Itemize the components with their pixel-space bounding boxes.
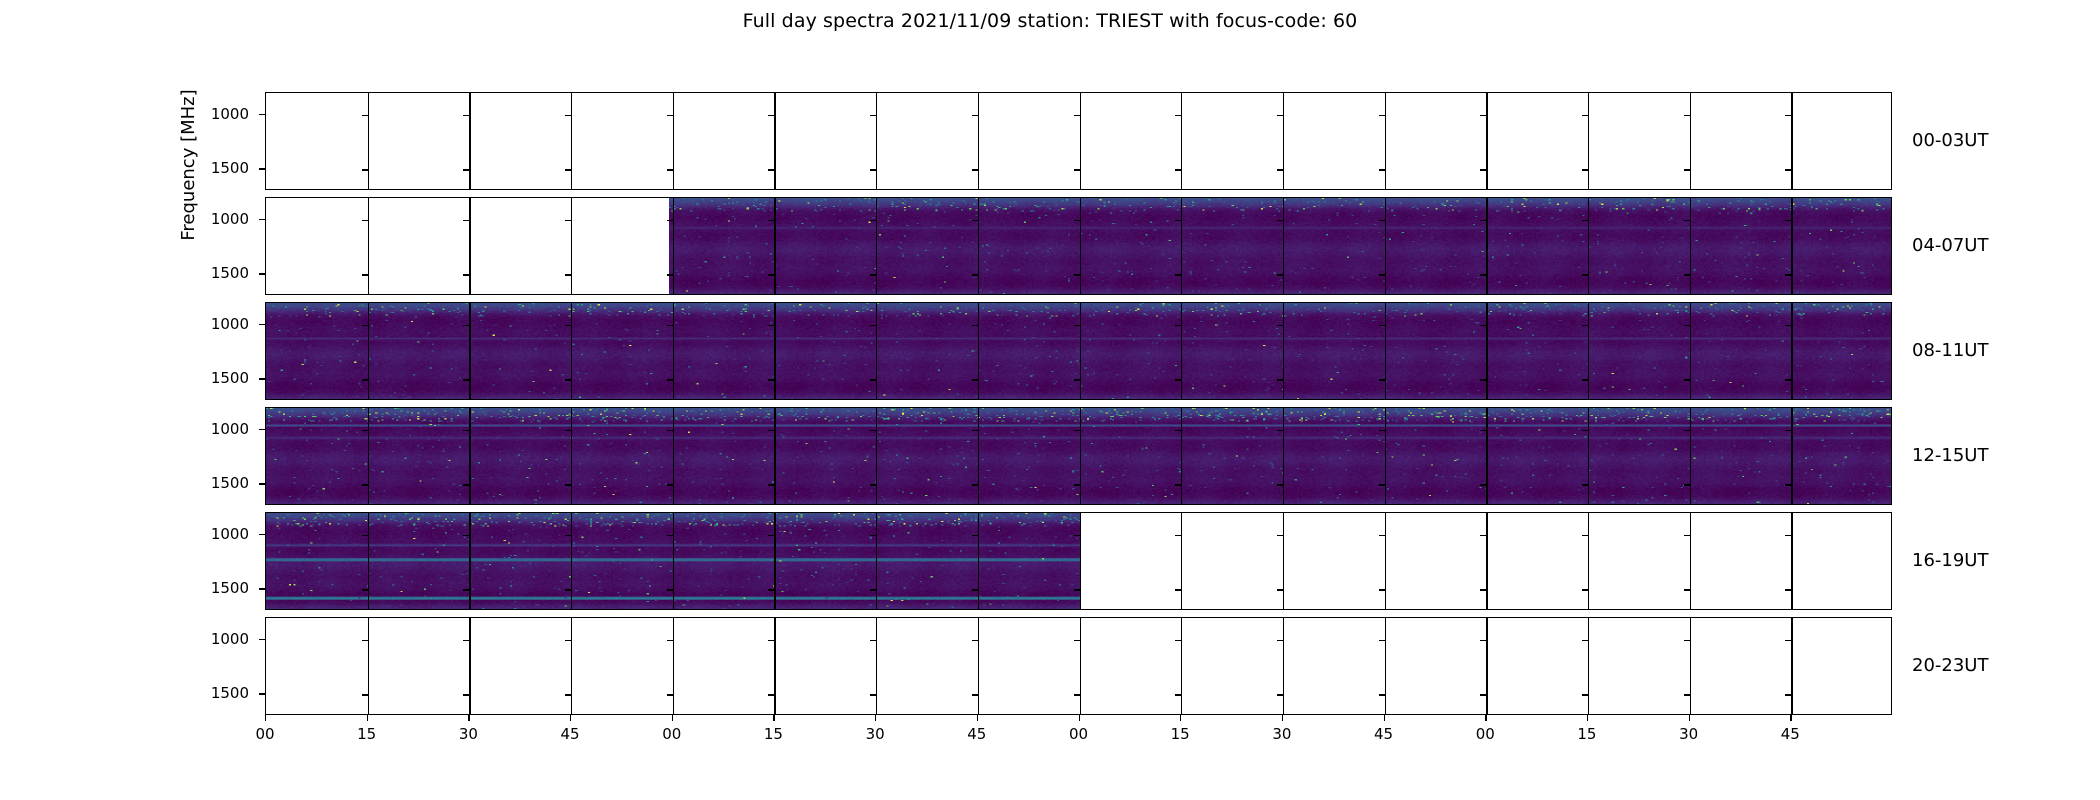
y-tick-inner (1480, 379, 1486, 380)
y-tick-inner (1175, 640, 1181, 641)
y-tick-inner (667, 484, 673, 485)
y-tick-inner (768, 169, 774, 170)
y-tick-inner (870, 220, 876, 221)
spectrogram-row-12-15[interactable] (265, 407, 1892, 505)
y-tick-label: 1500 (189, 684, 249, 702)
y-tick-inner (972, 640, 978, 641)
y-tick-inner (870, 694, 876, 695)
y-tick-inner (1277, 115, 1283, 116)
y-tick-inner (1277, 535, 1283, 536)
y-tick-inner (463, 274, 469, 275)
y-tick-inner (972, 589, 978, 590)
subpanel-divider (469, 198, 470, 294)
subpanel-divider (1283, 303, 1284, 399)
y-tick-inner (1074, 325, 1080, 326)
y-tick-inner (1480, 115, 1486, 116)
subpanel-divider (876, 408, 877, 504)
y-tick-inner (1684, 484, 1690, 485)
y-tick-inner (1684, 115, 1690, 116)
subpanel-divider (1690, 513, 1691, 609)
y-tick-inner (1074, 484, 1080, 485)
y-tick-inner (870, 589, 876, 590)
y-tick-inner (1480, 589, 1486, 590)
y-tick-inner (768, 640, 774, 641)
subpanel-divider (1588, 303, 1589, 399)
page-title: Full day spectra 2021/11/09 station: TRI… (0, 10, 2100, 32)
y-tick-inner (1582, 484, 1588, 485)
subpanel-divider (1791, 303, 1792, 399)
y-tick-inner (1684, 589, 1690, 590)
y-tick-label: 1500 (189, 474, 249, 492)
y-tick-inner (1582, 640, 1588, 641)
y-tick-inner (565, 115, 571, 116)
subpanel-divider (1486, 513, 1487, 609)
y-tick-inner (667, 430, 673, 431)
y-tick-inner (1175, 325, 1181, 326)
subpanel-divider (1486, 198, 1487, 294)
y-tick-inner (1379, 535, 1385, 536)
y-tick-inner (1074, 220, 1080, 221)
x-tick-label: 45 (1760, 725, 1820, 743)
y-tick-label: 1000 (189, 525, 249, 543)
subpanel-divider (876, 93, 877, 189)
y-tick-inner (1074, 535, 1080, 536)
y-tick-inner (1175, 169, 1181, 170)
y-tick-inner (870, 430, 876, 431)
subpanel-divider (978, 618, 979, 714)
y-tick (259, 324, 265, 325)
subpanel-divider (1690, 303, 1691, 399)
subpanel-divider (1283, 513, 1284, 609)
x-tick (773, 715, 774, 721)
y-tick-label: 1000 (189, 210, 249, 228)
subpanel-divider (876, 513, 877, 609)
y-tick-inner (870, 325, 876, 326)
subpanel-divider (1080, 93, 1081, 189)
y-tick-inner (972, 115, 978, 116)
y-tick-inner (565, 220, 571, 221)
y-tick-inner (870, 115, 876, 116)
y-tick-label: 1000 (189, 315, 249, 333)
y-tick-inner (972, 274, 978, 275)
subpanel-divider (368, 513, 369, 609)
x-tick-label: 00 (1455, 725, 1515, 743)
x-tick-label: 15 (337, 725, 397, 743)
x-tick (1384, 715, 1385, 721)
subpanel-divider (368, 93, 369, 189)
y-tick-inner (1785, 484, 1791, 485)
subpanel-divider (1588, 618, 1589, 714)
y-tick (259, 588, 265, 589)
y-tick-inner (1480, 430, 1486, 431)
y-tick-inner (1074, 274, 1080, 275)
subpanel-divider (978, 408, 979, 504)
y-tick-inner (1785, 430, 1791, 431)
y-tick-inner (565, 640, 571, 641)
subpanel-divider (1080, 513, 1081, 609)
y-tick-inner (565, 694, 571, 695)
y-tick-inner (667, 220, 673, 221)
subpanel-divider (368, 618, 369, 714)
y-tick-inner (1379, 694, 1385, 695)
y-tick-inner (463, 589, 469, 590)
y-tick-inner (1074, 115, 1080, 116)
y-tick-inner (1379, 169, 1385, 170)
subpanel-divider (368, 198, 369, 294)
y-tick-inner (1582, 169, 1588, 170)
x-tick (977, 715, 978, 721)
y-tick-inner (870, 274, 876, 275)
y-tick-inner (1175, 379, 1181, 380)
row-label-12-15: 12-15UT (1912, 445, 1988, 466)
y-tick-inner (565, 535, 571, 536)
subpanel-divider (1181, 198, 1182, 294)
subpanel-divider (978, 513, 979, 609)
x-tick (1180, 715, 1181, 721)
subpanel-divider (1791, 408, 1792, 504)
y-tick-inner (463, 484, 469, 485)
subpanel-divider (469, 618, 470, 714)
spectrogram-plot (265, 92, 1892, 699)
y-tick-inner (565, 430, 571, 431)
y-tick-inner (1480, 640, 1486, 641)
subpanel-divider (1080, 198, 1081, 294)
y-tick-inner (463, 220, 469, 221)
subpanel-divider (1181, 408, 1182, 504)
subpanel-divider (774, 303, 775, 399)
y-tick-inner (667, 115, 673, 116)
x-tick (265, 715, 266, 721)
y-tick-inner (362, 694, 368, 695)
subpanel-divider (1283, 408, 1284, 504)
y-tick-inner (1582, 694, 1588, 695)
y-tick-inner (1175, 220, 1181, 221)
y-tick-inner (1785, 115, 1791, 116)
y-tick-inner (1582, 115, 1588, 116)
y-tick-label: 1000 (189, 420, 249, 438)
subpanel-divider (876, 618, 877, 714)
y-tick-inner (1074, 169, 1080, 170)
y-tick-inner (870, 535, 876, 536)
subpanel-divider (571, 408, 572, 504)
y-tick-inner (1684, 694, 1690, 695)
row-label-04-07: 04-07UT (1912, 235, 1988, 256)
subpanel-divider (1791, 93, 1792, 189)
x-tick (1689, 715, 1690, 721)
y-tick-inner (362, 640, 368, 641)
subpanel-divider (1690, 618, 1691, 714)
x-tick (1485, 715, 1486, 721)
y-tick-inner (1379, 115, 1385, 116)
y-tick-inner (463, 430, 469, 431)
y-tick-inner (768, 274, 774, 275)
subpanel-divider (1181, 618, 1182, 714)
y-tick-inner (1480, 535, 1486, 536)
y-tick-inner (1582, 274, 1588, 275)
y-tick-inner (972, 430, 978, 431)
y-tick (259, 483, 265, 484)
subpanel-divider (1283, 198, 1284, 294)
y-tick-inner (1379, 640, 1385, 641)
y-tick-inner (1785, 274, 1791, 275)
y-tick-inner (1785, 169, 1791, 170)
y-tick-inner (1785, 325, 1791, 326)
subpanel-divider (1080, 618, 1081, 714)
subpanel-divider (673, 303, 674, 399)
y-tick-inner (1480, 274, 1486, 275)
y-tick-inner (1277, 379, 1283, 380)
subpanel-divider (1385, 198, 1386, 294)
y-tick-inner (870, 169, 876, 170)
y-tick-inner (1074, 589, 1080, 590)
y-tick (259, 639, 265, 640)
spectrogram-data-04-07 (669, 198, 1892, 294)
y-tick-inner (1582, 379, 1588, 380)
subpanel-divider (1791, 198, 1792, 294)
x-tick (367, 715, 368, 721)
y-tick-inner (667, 274, 673, 275)
subpanel-divider (774, 408, 775, 504)
y-tick-inner (768, 220, 774, 221)
y-tick-label: 1000 (189, 105, 249, 123)
subpanel-divider (1588, 93, 1589, 189)
x-tick-label: 30 (1252, 725, 1312, 743)
y-tick-inner (565, 274, 571, 275)
y-tick-inner (1480, 220, 1486, 221)
subpanel-divider (1486, 303, 1487, 399)
subpanel-divider (1588, 198, 1589, 294)
y-tick (259, 219, 265, 220)
y-tick-inner (972, 325, 978, 326)
subpanel-divider (673, 618, 674, 714)
y-tick-inner (1684, 274, 1690, 275)
spectrogram-row-08-11[interactable] (265, 302, 1892, 400)
x-tick-label: 15 (1557, 725, 1617, 743)
subpanel-divider (1486, 408, 1487, 504)
x-tick-label: 45 (540, 725, 600, 743)
x-tick (1282, 715, 1283, 721)
x-tick (570, 715, 571, 721)
y-tick-inner (1074, 640, 1080, 641)
subpanel-divider (774, 618, 775, 714)
subpanel-divider (1385, 618, 1386, 714)
y-tick-inner (362, 220, 368, 221)
y-tick-inner (1582, 430, 1588, 431)
y-tick (259, 168, 265, 169)
x-tick-label: 30 (438, 725, 498, 743)
y-tick-inner (362, 535, 368, 536)
y-tick-inner (1684, 325, 1690, 326)
subpanel-divider (368, 408, 369, 504)
y-tick-inner (870, 640, 876, 641)
subpanel-divider (1385, 408, 1386, 504)
y-tick-inner (972, 694, 978, 695)
spectrogram-row-16-19[interactable] (265, 512, 1892, 610)
spectrogram-row-04-07[interactable] (265, 197, 1892, 295)
subpanel-divider (1486, 93, 1487, 189)
x-tick (875, 715, 876, 721)
y-tick-inner (1480, 325, 1486, 326)
y-tick-inner (362, 589, 368, 590)
subpanel-divider (774, 198, 775, 294)
subpanel-divider (774, 93, 775, 189)
y-tick-inner (1379, 484, 1385, 485)
y-tick-inner (1684, 640, 1690, 641)
subpanel-divider (571, 303, 572, 399)
row-label-16-19: 16-19UT (1912, 550, 1988, 571)
y-tick-inner (362, 115, 368, 116)
x-tick (672, 715, 673, 721)
y-tick (259, 378, 265, 379)
y-tick-inner (1379, 274, 1385, 275)
x-tick (1079, 715, 1080, 721)
y-tick-inner (362, 325, 368, 326)
y-tick-inner (362, 169, 368, 170)
y-tick-inner (362, 274, 368, 275)
y-tick-inner (1684, 169, 1690, 170)
subpanel-divider (469, 408, 470, 504)
y-tick-inner (667, 169, 673, 170)
x-tick-label: 30 (845, 725, 905, 743)
y-tick-inner (1277, 325, 1283, 326)
y-tick-inner (972, 535, 978, 536)
y-tick-inner (362, 484, 368, 485)
subpanel-divider (571, 198, 572, 294)
y-tick-inner (768, 379, 774, 380)
y-tick-inner (463, 169, 469, 170)
x-tick-label: 45 (1354, 725, 1414, 743)
y-tick-inner (972, 220, 978, 221)
y-tick-inner (362, 430, 368, 431)
y-tick-inner (463, 325, 469, 326)
x-tick (468, 715, 469, 721)
y-tick-inner (1277, 589, 1283, 590)
subpanel-divider (978, 303, 979, 399)
subpanel-divider (1080, 408, 1081, 504)
y-tick-inner (1277, 694, 1283, 695)
y-tick-inner (463, 640, 469, 641)
y-tick-inner (768, 115, 774, 116)
y-tick-inner (565, 325, 571, 326)
y-tick-inner (1785, 379, 1791, 380)
subpanel-divider (673, 198, 674, 294)
subpanel-divider (469, 513, 470, 609)
y-tick-inner (1175, 274, 1181, 275)
y-tick-inner (972, 379, 978, 380)
x-tick-label: 45 (947, 725, 1007, 743)
y-tick-inner (1074, 379, 1080, 380)
y-tick-label: 1500 (189, 579, 249, 597)
y-tick-inner (1074, 694, 1080, 695)
subpanel-divider (469, 303, 470, 399)
y-tick-inner (870, 484, 876, 485)
y-tick-inner (463, 535, 469, 536)
y-tick-inner (565, 169, 571, 170)
y-tick-inner (667, 640, 673, 641)
y-tick-inner (362, 379, 368, 380)
x-tick-label: 15 (1150, 725, 1210, 743)
y-tick-inner (1379, 430, 1385, 431)
y-tick-inner (1277, 430, 1283, 431)
y-tick-inner (667, 535, 673, 536)
x-tick (1587, 715, 1588, 721)
y-tick-inner (667, 589, 673, 590)
y-tick-inner (1175, 694, 1181, 695)
y-tick-label: 1500 (189, 264, 249, 282)
y-tick-inner (768, 484, 774, 485)
y-tick-label: 1500 (189, 369, 249, 387)
y-tick-inner (1074, 430, 1080, 431)
row-label-08-11: 08-11UT (1912, 340, 1988, 361)
y-tick-inner (1277, 640, 1283, 641)
x-tick-label: 00 (235, 725, 295, 743)
y-tick-inner (1277, 169, 1283, 170)
y-tick-inner (1480, 484, 1486, 485)
subpanel-divider (1690, 408, 1691, 504)
y-tick-inner (463, 115, 469, 116)
y-tick-inner (1785, 535, 1791, 536)
y-tick-inner (1175, 430, 1181, 431)
y-tick-inner (1785, 640, 1791, 641)
y-tick-inner (1684, 220, 1690, 221)
y-tick-inner (1582, 589, 1588, 590)
subpanel-divider (774, 513, 775, 609)
x-tick-label: 30 (1659, 725, 1719, 743)
y-tick (259, 534, 265, 535)
row-label-00-03: 00-03UT (1912, 130, 1988, 151)
subpanel-divider (978, 198, 979, 294)
subpanel-divider (571, 618, 572, 714)
y-tick-inner (1785, 589, 1791, 590)
subpanel-divider (673, 513, 674, 609)
subpanel-divider (673, 408, 674, 504)
y-tick-inner (1277, 274, 1283, 275)
subpanel-divider (469, 93, 470, 189)
y-tick-inner (1175, 535, 1181, 536)
y-tick-inner (667, 379, 673, 380)
subpanel-divider (1181, 93, 1182, 189)
subpanel-divider (1791, 513, 1792, 609)
y-tick-inner (1379, 379, 1385, 380)
y-tick-inner (972, 169, 978, 170)
subpanel-divider (1181, 303, 1182, 399)
y-tick (259, 693, 265, 694)
y-tick-inner (1480, 694, 1486, 695)
y-tick (259, 114, 265, 115)
x-tick-label: 15 (743, 725, 803, 743)
subpanel-divider (1385, 303, 1386, 399)
subpanel-divider (1283, 93, 1284, 189)
y-tick-inner (1277, 484, 1283, 485)
spectrogram-row-20-23[interactable] (265, 617, 1892, 715)
y-tick-inner (565, 484, 571, 485)
y-tick (259, 273, 265, 274)
y-tick-inner (768, 535, 774, 536)
y-tick-inner (1684, 430, 1690, 431)
y-tick-inner (1582, 535, 1588, 536)
subpanel-divider (876, 303, 877, 399)
y-tick-inner (1684, 535, 1690, 536)
y-tick-inner (1480, 169, 1486, 170)
subpanel-divider (1181, 513, 1182, 609)
y-tick-inner (1175, 589, 1181, 590)
subpanel-divider (1588, 513, 1589, 609)
y-tick-label: 1500 (189, 159, 249, 177)
spectrogram-row-00-03[interactable] (265, 92, 1892, 190)
subpanel-divider (368, 303, 369, 399)
y-tick-inner (768, 325, 774, 326)
y-tick-inner (1379, 325, 1385, 326)
